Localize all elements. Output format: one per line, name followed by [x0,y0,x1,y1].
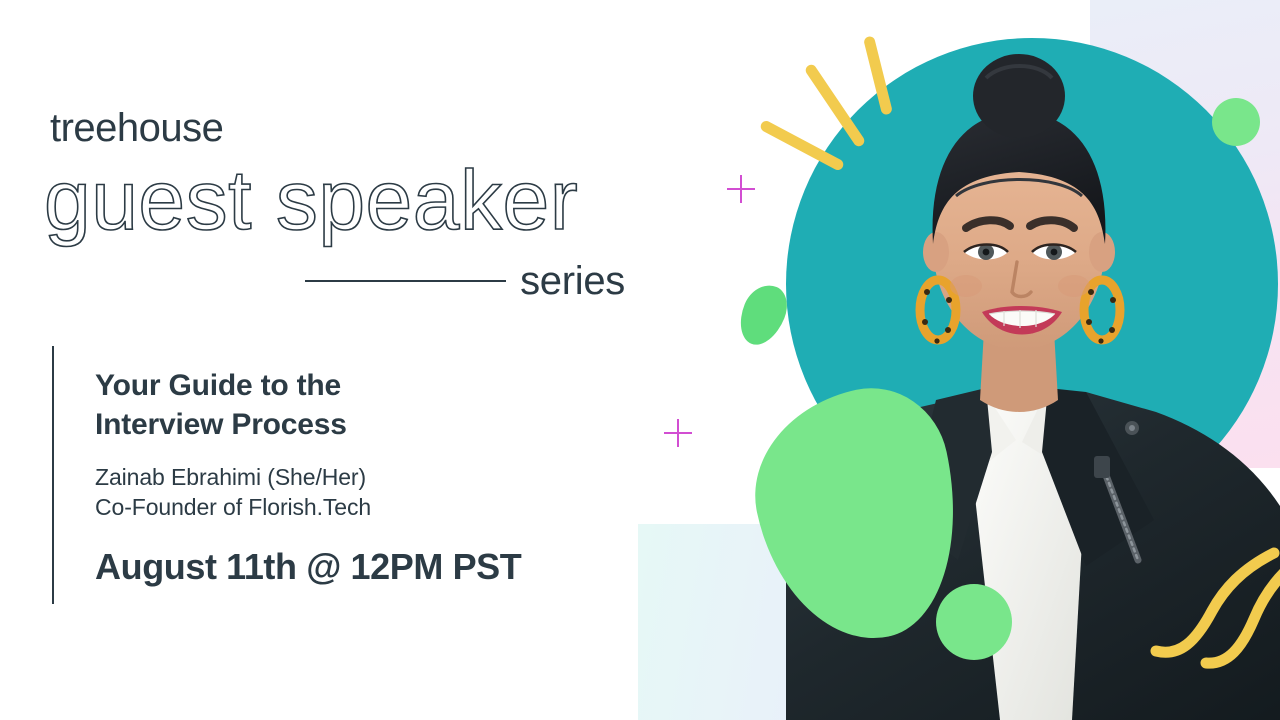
green-circle-shape-top-right [1212,98,1260,146]
plus-mark-icon-lower [664,419,692,447]
brand-wordmark: treehouse [50,108,223,148]
speaker-name: Zainab Ebrahimi (She/Her) [95,462,612,492]
cheek-left [950,275,982,297]
talk-title-line-2: Interview Process [95,405,612,444]
cheek-right [1058,275,1090,297]
earring-left [920,280,956,344]
series-divider-rule [305,280,506,282]
event-datetime: August 11th @ 12PM PST [95,549,612,585]
jacket-snap-button [1125,421,1139,435]
ear-left [923,232,949,272]
headline-outline-text: guest speaker [44,158,578,242]
earring-right [1084,280,1120,344]
guest-speaker-promo-poster: treehouse guest speaker series Your Guid… [0,0,1280,720]
green-circle-shape-bottom [936,584,1012,660]
series-label: series [520,261,625,301]
green-bean-small-shape [732,278,794,351]
talk-title-line-1: Your Guide to the [95,366,612,405]
talk-details-block: Your Guide to the Interview Process Zain… [52,346,612,604]
plus-mark-icon-upper [727,175,755,203]
speaker-role: Co-Founder of Florish.Tech [95,492,612,522]
series-row: series [305,258,625,304]
yellow-squiggle-group [1150,545,1280,675]
talk-title: Your Guide to the Interview Process [95,366,612,444]
ear-right [1089,232,1115,272]
